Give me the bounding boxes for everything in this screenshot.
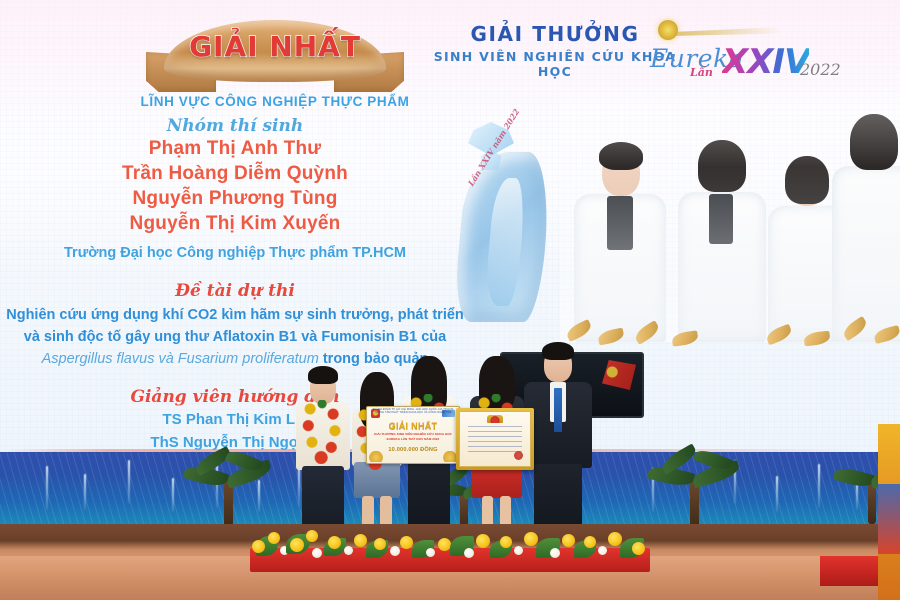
flower-garland	[300, 400, 346, 464]
decorative-palm-right	[650, 450, 738, 528]
stage-flower-arrangement	[250, 522, 650, 568]
placard-subtitle-line-2: EUREKA LẦN THỨ XXIV NĂM 2022	[367, 437, 459, 442]
inner-shirt	[607, 196, 633, 250]
placard-subtitle: GIẢI THƯỞNG SINH VIÊN NGHIÊN CỨU KHOA HỌ…	[367, 432, 459, 442]
topic-line-2: và sinh độc tố gây ung thư Aflatoxin B1 …	[0, 327, 470, 349]
eureka-logo: Eureka Lần XXIV 2022	[648, 20, 858, 82]
team-member-2: Trần Hoàng Diễm Quỳnh	[0, 161, 470, 186]
ceremony-photo: GIẢI NHẤT LĨNH VỰC CÔNG NGHIỆP THỰC PHẨM…	[0, 0, 900, 600]
placard-title: GIẢI NHẤT	[367, 421, 459, 431]
team-member-3: Nguyễn Phương Tùng	[0, 186, 470, 211]
placard-flower-left-icon	[369, 451, 383, 462]
backdrop-student-photo	[560, 92, 900, 342]
side-banner	[878, 424, 900, 600]
certificate-text-lines	[468, 426, 522, 456]
placard-flower-right-icon	[443, 451, 457, 462]
event-title-block: GIẢI THƯỞNG SINH VIÊN NGHIÊN CỨU KHOA HỌ…	[430, 22, 680, 79]
team-member-1: Phạm Thị Anh Thư	[0, 136, 470, 161]
topic-species-italic: Aspergillus flavus và Fusarium prolifera…	[42, 351, 319, 367]
eureka-lan-label: Lần	[690, 66, 713, 79]
logo-star-icon	[658, 20, 678, 40]
monitor-logo-icon	[602, 360, 636, 390]
eureka-edition-number: XXIV	[722, 42, 809, 82]
hair	[698, 140, 746, 192]
hair	[850, 114, 898, 170]
photo-student-2	[678, 114, 766, 342]
photo-student-4	[832, 100, 900, 342]
topic-line-1: Nghiên cứu ứng dụng khí CO2 kìm hãm sự s…	[0, 305, 470, 327]
eureka-year: 2022	[800, 60, 841, 79]
topic-label: Đề tài dự thi	[0, 281, 470, 301]
certificate-paper	[459, 411, 531, 467]
placard-org-line-2: TRUNG TÂM PHÁT TRIỂN KHOA HỌC VÀ CÔNG NG…	[367, 411, 459, 414]
ribbon-label: GIẢI NHẤT	[150, 30, 400, 63]
lab-coat	[832, 166, 900, 342]
hair	[785, 156, 829, 204]
award-field-label: LĨNH VỰC CÔNG NGHIỆP THỰC PHẨM	[60, 94, 490, 109]
national-emblem-icon	[487, 415, 503, 423]
award-recipient-1	[292, 360, 354, 546]
necktie	[554, 388, 562, 432]
team-member-4: Nguyễn Thị Kim Xuyến	[0, 211, 470, 236]
inner-shirt	[709, 194, 733, 244]
event-title-line2: SINH VIÊN NGHIÊN CỨU KHOA HỌC	[430, 49, 680, 79]
decorative-palm-left	[186, 452, 270, 526]
framed-certificate	[456, 408, 534, 470]
photo-student-1	[574, 122, 666, 342]
logo-swoosh-icon	[672, 27, 782, 41]
team-school: Trường Đại học Công nghiệp Thực phẩm TP.…	[0, 245, 470, 261]
certificate-seal-icon	[514, 451, 523, 460]
first-prize-ribbon: GIẢI NHẤT	[150, 8, 400, 100]
hair	[599, 142, 643, 170]
event-title-line1: GIẢI THƯỞNG	[430, 22, 680, 46]
placard-org-lines: THÀNH ĐOÀN TP. HỒ CHÍ MINH - ĐẠI HỌC QUỐ…	[367, 408, 459, 418]
prize-placard: THÀNH ĐOÀN TP. HỒ CHÍ MINH - ĐẠI HỌC QUỐ…	[366, 406, 460, 464]
team-label: Nhóm thí sinh	[0, 116, 470, 136]
hair	[542, 342, 574, 360]
hair	[308, 366, 338, 384]
